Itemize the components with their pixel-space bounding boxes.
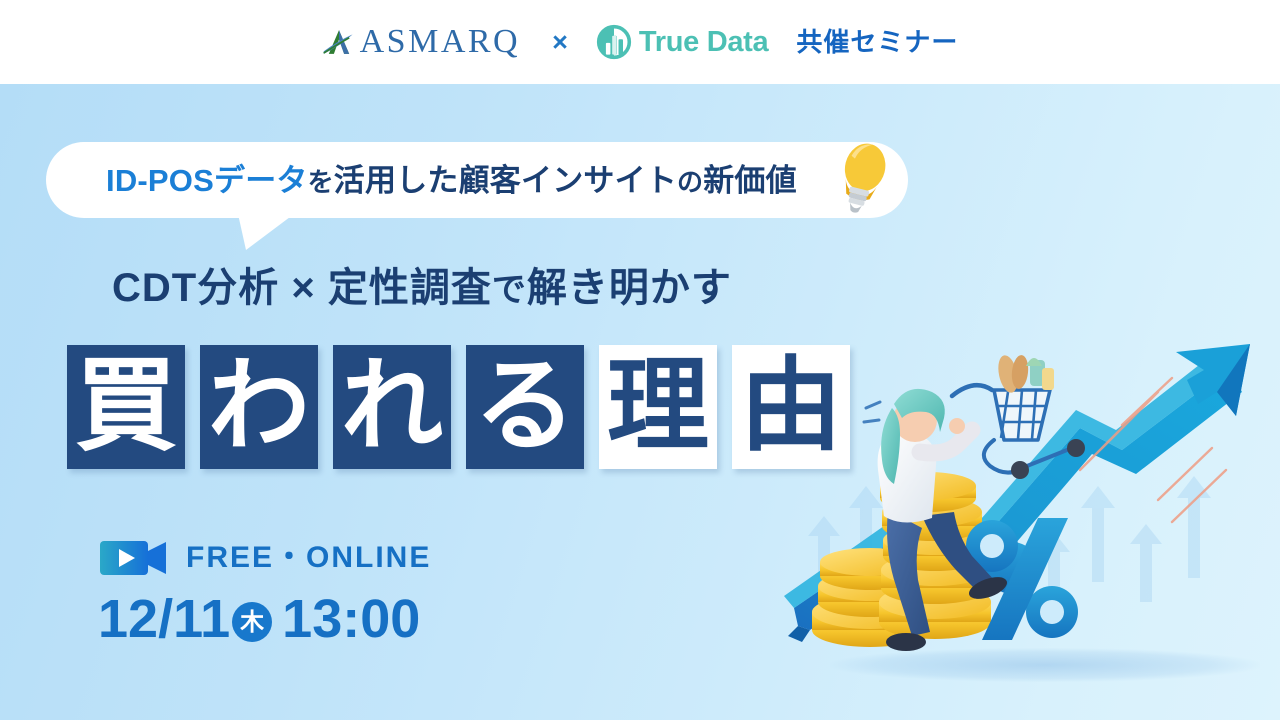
asmarq-wordmark: ASMARQ (360, 25, 520, 59)
free-online-row: FREE・ONLINE (100, 537, 431, 579)
growth-arrow-shopper-illustration (780, 330, 1280, 690)
banner-canvas: ASMARQ × True Data 共催セミナー (0, 0, 1280, 720)
video-camera-icon (100, 537, 168, 579)
bubble-particle-1: を (308, 167, 334, 197)
title-box-char: 由 (740, 356, 842, 458)
bubble-tail-text: 新価値 (703, 163, 797, 198)
boxed-title: 買 わ れ る 理 由 (67, 345, 850, 469)
truedata-wordmark: True Data (639, 28, 768, 57)
title-box-char: 理 (607, 356, 709, 458)
headline-part-2: 定性調査 (328, 266, 492, 310)
asmarq-a-mark-icon (322, 25, 356, 59)
title-box-char: 買 (75, 356, 177, 458)
bubble-mid: 活用した顧客インサイト (334, 163, 677, 198)
title-box-2: わ (200, 345, 318, 469)
headline-cross: × (291, 266, 315, 310)
speech-bubble-tail (238, 214, 294, 250)
headline-part-4: 解き明かす (527, 266, 732, 310)
speech-bubble-text: ID-POSデータを活用した顧客インサイトの新価値 (106, 165, 797, 196)
title-box-char: わ (208, 356, 310, 458)
headline-part-3: で (492, 271, 527, 309)
free-online-label: FREE・ONLINE (186, 543, 431, 573)
speech-bubble: ID-POSデータを活用した顧客インサイトの新価値 (46, 142, 908, 218)
headline-part-1: CDT分析 (112, 266, 279, 310)
weekday-label: 木 (240, 610, 264, 634)
title-box-6: 由 (732, 345, 850, 469)
truedata-bar-chart-circle-icon (596, 24, 632, 60)
title-box-1: 買 (67, 345, 185, 469)
title-box-char: れ (341, 356, 443, 458)
collab-cross-icon: × (552, 29, 568, 56)
event-date: 12/11 (98, 592, 230, 646)
title-box-4: る (466, 345, 584, 469)
weekday-badge: 木 (232, 602, 272, 642)
lightbulb-icon (832, 137, 892, 223)
header-seminar-label: 共催セミナー (796, 29, 958, 55)
title-box-3: れ (333, 345, 451, 469)
bubble-highlight: ID-POSデータ (106, 163, 308, 198)
title-box-char: る (474, 356, 576, 458)
truedata-logo[interactable]: True Data (596, 24, 768, 60)
title-box-5: 理 (599, 345, 717, 469)
page-title: CDT分析 × 定性調査で解き明かす (112, 268, 732, 308)
asmarq-logo[interactable]: ASMARQ (322, 25, 520, 59)
header-bar: ASMARQ × True Data 共催セミナー (0, 0, 1280, 84)
bubble-particle-2: の (677, 167, 703, 197)
event-datetime: 12/11 木 13:00 (98, 592, 420, 646)
event-time: 13:00 (282, 592, 420, 646)
